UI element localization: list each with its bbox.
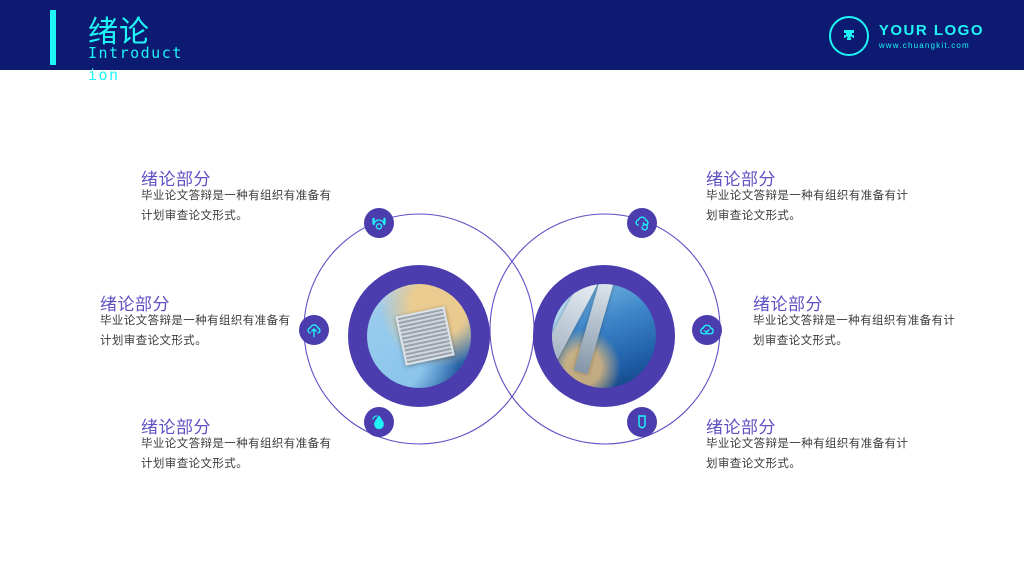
cloud-sync-icon — [633, 214, 651, 232]
badge-paperclip[interactable] — [627, 407, 657, 437]
header-bar: 绪论 Introduction YOUR LOGO www.chuangkit.… — [0, 0, 1024, 70]
page-title-en: Introduction — [88, 42, 188, 86]
header-title-group: 绪论 Introduction — [88, 16, 388, 86]
badge-cloud-check[interactable] — [692, 315, 722, 345]
block-body: 毕业论文答辩是一种有组织有准备有计划审查论文形式。 — [706, 433, 916, 473]
block-body: 毕业论文答辩是一种有组织有准备有计划审查论文形式。 — [706, 185, 916, 225]
block-body: 毕业论文答辩是一种有组织有准备有计划审查论文形式。 — [141, 433, 341, 473]
text-block-left-bottom: 绪论部分 毕业论文答辩是一种有组织有准备有计划审查论文形式。 — [141, 418, 341, 473]
badge-water-drop[interactable] — [364, 407, 394, 437]
text-block-right-middle: 绪论部分 毕业论文答辩是一种有组织有准备有计划审查论文形式。 — [753, 295, 963, 350]
block-body: 毕业论文答辩是一种有组织有准备有计划审查论文形式。 — [753, 310, 963, 350]
cpu-microchip-photo — [367, 284, 471, 388]
slide-root: 绪论 Introduction YOUR LOGO www.chuangkit.… — [0, 0, 1024, 576]
text-block-left-top: 绪论部分 毕业论文答辩是一种有组织有准备有计划审查论文形式。 — [141, 170, 341, 225]
paperclip-icon — [633, 413, 651, 431]
block-body: 毕业论文答辩是一种有组织有准备有计划审查论文形式。 — [141, 185, 341, 225]
cloud-check-icon — [698, 321, 716, 339]
logo-text-group: YOUR LOGO www.chuangkit.com — [879, 23, 984, 50]
water-drop-icon — [370, 413, 388, 431]
mascot-icon — [829, 16, 869, 56]
cloud-upload-icon — [305, 321, 323, 339]
badge-headphones[interactable] — [364, 208, 394, 238]
block-body: 毕业论文答辩是一种有组织有准备有计划审查论文形式。 — [100, 310, 300, 350]
logo-title: YOUR LOGO — [879, 23, 984, 38]
header-accent-bar — [50, 10, 56, 65]
badge-cloud-upload[interactable] — [299, 315, 329, 345]
logo-url: www.chuangkit.com — [879, 42, 984, 50]
logo[interactable]: YOUR LOGO www.chuangkit.com — [829, 16, 984, 56]
headphones-icon — [370, 214, 388, 232]
text-block-left-middle: 绪论部分 毕业论文答辩是一种有组织有准备有计划审查论文形式。 — [100, 295, 300, 350]
photo-ring-right — [533, 265, 675, 407]
photo-ring-left — [348, 265, 490, 407]
text-block-right-top: 绪论部分 毕业论文答辩是一种有组织有准备有计划审查论文形式。 — [706, 170, 916, 225]
text-block-right-bottom: 绪论部分 毕业论文答辩是一种有组织有准备有计划审查论文形式。 — [706, 418, 916, 473]
circuit-board-tweezers-photo — [552, 284, 656, 388]
badge-cloud-sync[interactable] — [627, 208, 657, 238]
